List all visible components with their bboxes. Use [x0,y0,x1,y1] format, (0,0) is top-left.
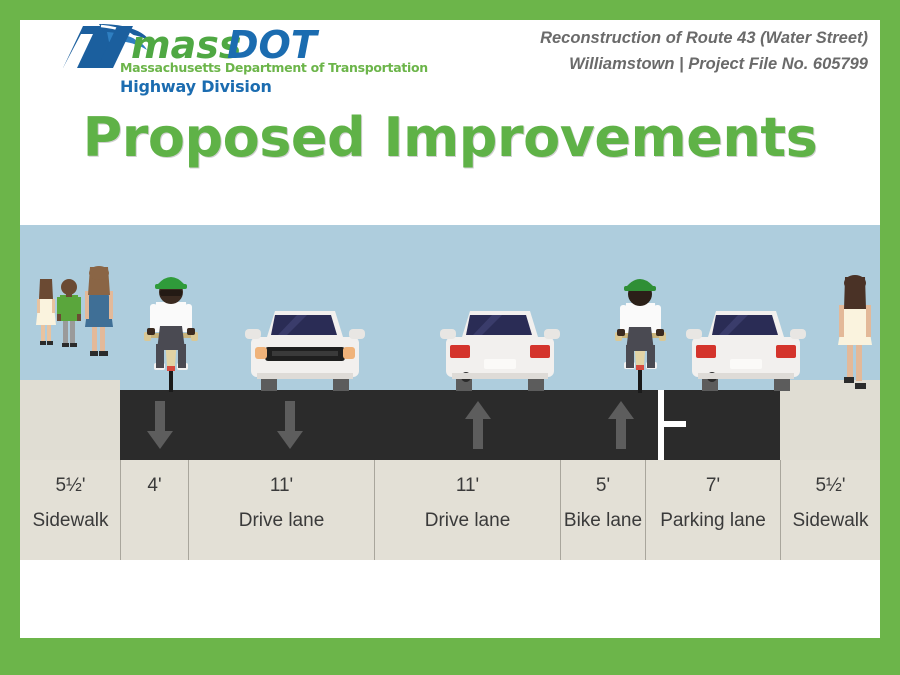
left-sidewalk-surface [20,380,120,460]
lane-arrow-up [465,401,491,449]
project-file-line: Williamstown | Project File No. 605799 [540,52,868,78]
lane-cell-sidewalk-right: 5½' Sidewalk [780,460,880,560]
lane-arrow-down [277,401,303,449]
slide-frame: mass DOT Massachusetts Department of Tra… [20,20,880,638]
massdot-logo: mass DOT Massachusetts Department of Tra… [47,22,377,102]
lane-dimension: 11' [270,476,293,497]
lane-arrow-down [147,401,173,449]
lane-cell-shoulder: 4' [120,460,188,560]
car-front-view [245,297,365,397]
lane-name: Drive lane [425,511,511,532]
lane-dimension: 11' [456,476,479,497]
lane-name: Sidewalk [32,511,108,532]
slide-header: mass DOT Massachusetts Department of Tra… [20,20,880,102]
car-parked-rear-view [686,297,806,397]
lane-dimension: 5½' [55,476,85,497]
lane-name: Drive lane [239,511,325,532]
lane-dimension: 7' [706,476,720,497]
logo-subtitle-division: Highway Division [120,77,272,96]
lane-cell-drive-lane-2: 11' Drive lane [374,460,560,560]
lane-dimension: 5' [596,476,610,497]
lane-cell-sidewalk-left: 5½' Sidewalk [20,460,120,560]
pedestrian-child-cream [36,279,56,345]
left-sidewalk-pedestrians [28,265,128,385]
lane-dimension: 5½' [815,476,845,497]
lane-dimension: 4' [147,476,161,497]
lane-name: Bike lane [564,511,642,532]
lane-name: Parking lane [660,511,766,532]
lane-cell-drive-lane-1: 11' Drive lane [188,460,374,560]
car-rear-view [440,297,560,397]
project-title-line: Reconstruction of Route 43 (Water Street… [540,26,868,52]
right-sidewalk-pedestrian [825,273,880,403]
cyclist-shoulder [132,270,210,395]
parking-stripe-tee [664,421,686,427]
pedestrian-adult-blue [85,266,113,356]
lane-dimension-strip: 5½' Sidewalk 4' 11' Drive lane 11' Drive… [20,460,880,560]
logo-subtitle-agency: Massachusetts Department of Transportati… [120,60,428,75]
pedestrian-child-green [57,279,81,347]
project-info: Reconstruction of Route 43 (Water Street… [540,26,868,77]
cyclist-bike-lane [605,273,677,395]
lane-cell-parking-lane: 7' Parking lane [645,460,780,560]
lane-arrow-up [608,401,634,449]
lane-cell-bike-lane: 5' Bike lane [560,460,645,560]
page-title: Proposed Improvements [20,106,880,169]
lane-name: Sidewalk [792,511,868,532]
